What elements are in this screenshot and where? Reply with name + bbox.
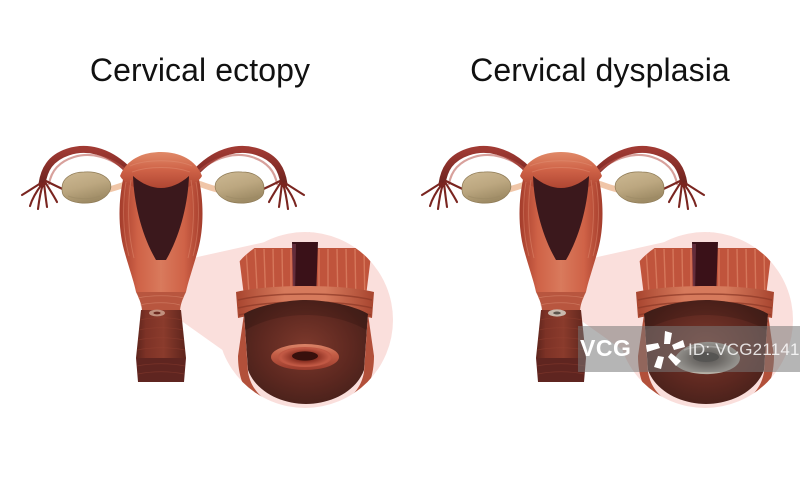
- cervix-right: [536, 309, 586, 382]
- magnifier-circle-left: [217, 232, 393, 408]
- fimbriae-right: [661, 181, 704, 209]
- diagram-uterus-dysplasia: [400, 0, 800, 500]
- burst-icon: [643, 327, 689, 373]
- fimbriae-right: [261, 181, 304, 209]
- lesion-ectopy: [271, 344, 339, 370]
- vcg-logo: VCG: [580, 337, 631, 360]
- illustration-canvas: Cervical ectopy: [0, 0, 800, 500]
- fimbriae-left: [22, 181, 65, 209]
- cervix-left: [136, 310, 186, 382]
- watermark-id-text: ID: VCG211410555909: [688, 340, 800, 360]
- ovary-left: [62, 172, 111, 203]
- ovary-right: [615, 172, 664, 203]
- panel-cervical-dysplasia: Cervical dysplasia: [400, 0, 800, 500]
- ovary-left: [462, 172, 511, 203]
- panel-cervical-ectopy: Cervical ectopy: [0, 0, 400, 500]
- magnifier-circle-right: [617, 232, 793, 408]
- ovary-right: [215, 172, 264, 203]
- diagram-uterus-ectopy: [0, 0, 400, 500]
- fimbriae-left: [422, 181, 465, 209]
